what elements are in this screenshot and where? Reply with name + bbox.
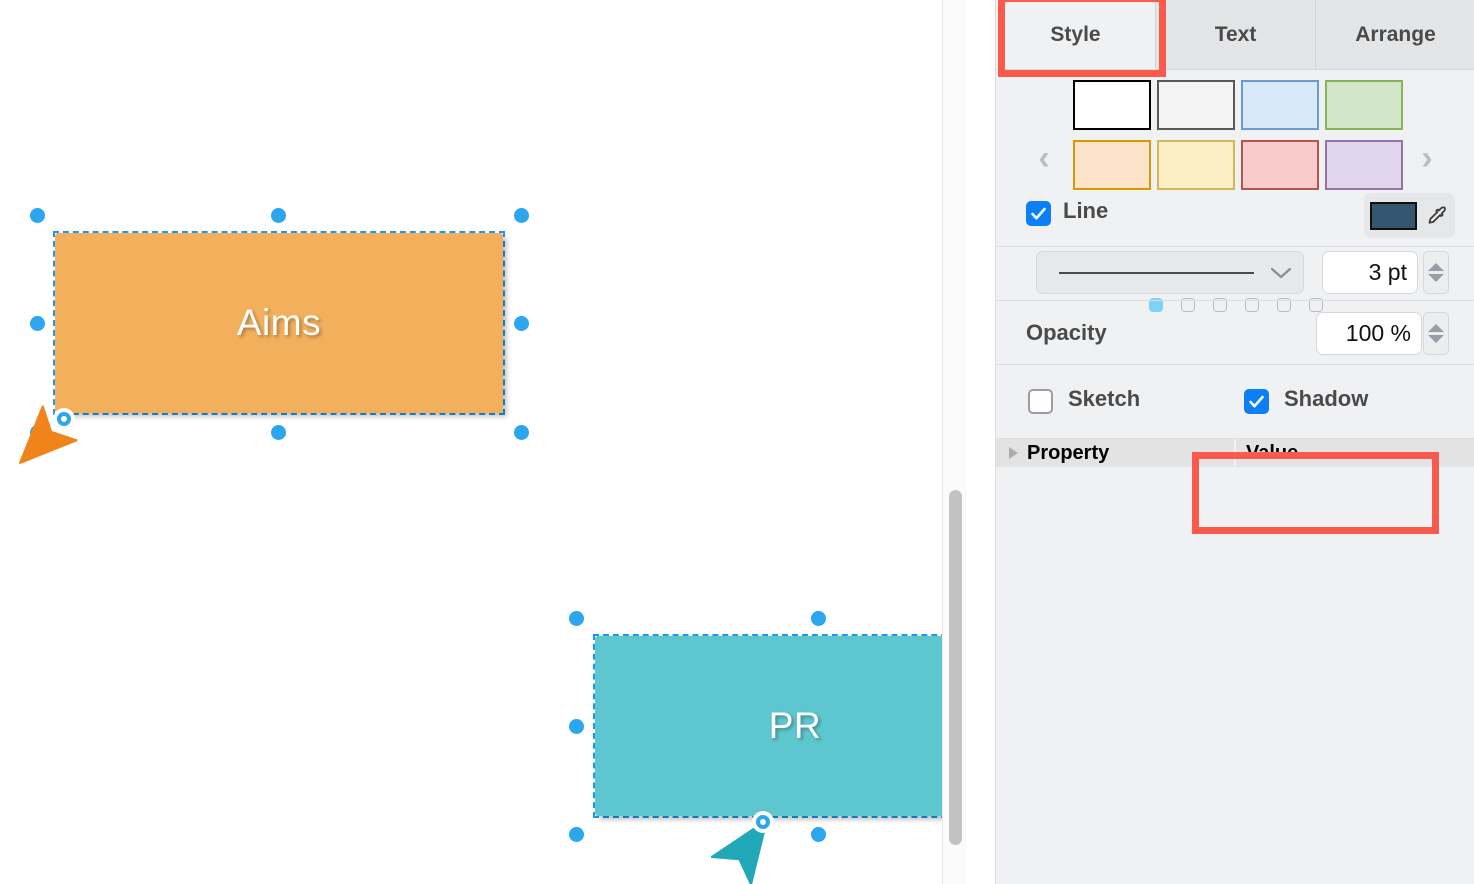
stepper-down-icon[interactable]: [1428, 274, 1444, 282]
panel-tabs: Style Text Arrange: [996, 0, 1474, 70]
opacity-section: Opacity 100 %: [996, 301, 1474, 365]
canvas-scrollbar-track[interactable]: [942, 0, 967, 884]
connection-point-aims-bottom-left[interactable]: [53, 408, 75, 430]
shape-pr[interactable]: PR: [595, 636, 967, 816]
sketch-shadow-section: Sketch Shadow: [996, 365, 1474, 439]
swatch-green[interactable]: [1325, 80, 1403, 130]
cursor-arrow-teal: [706, 806, 790, 884]
value-column-label: Value: [1246, 442, 1298, 465]
format-panel: Style Text Arrange ‹ ›: [995, 0, 1474, 884]
line-label: Line: [1063, 198, 1108, 224]
resize-handle-pr-nw[interactable]: [569, 611, 584, 626]
resize-handle-aims-ne[interactable]: [514, 208, 529, 223]
tab-arrange[interactable]: Arrange: [1316, 0, 1474, 70]
expand-triangle-icon[interactable]: [1009, 447, 1018, 459]
property-table-header: Property Value: [996, 439, 1474, 467]
resize-handle-pr-s[interactable]: [811, 827, 826, 842]
opacity-input[interactable]: 100 %: [1316, 312, 1422, 355]
tab-text[interactable]: Text: [1156, 0, 1316, 70]
line-color-group: [1364, 193, 1455, 238]
swatch-white[interactable]: [1073, 80, 1151, 130]
property-column-header[interactable]: Property: [996, 439, 1236, 467]
swatch-gray[interactable]: [1157, 80, 1235, 130]
resize-handle-aims-e[interactable]: [514, 316, 529, 331]
opacity-label: Opacity: [1026, 320, 1107, 346]
palette-prev-icon[interactable]: ‹: [1030, 136, 1058, 180]
app-root: Aims PR: [0, 0, 1474, 884]
resize-handle-aims-sw[interactable]: [30, 425, 45, 440]
shape-label-pr: PR: [769, 705, 821, 747]
eyedropper-icon[interactable]: [1424, 203, 1450, 229]
palette-next-icon[interactable]: ›: [1413, 136, 1441, 180]
line-style-select[interactable]: [1036, 251, 1304, 294]
resize-handle-aims-nw[interactable]: [30, 208, 45, 223]
sketch-label: Sketch: [1068, 386, 1140, 412]
stepper-up-icon[interactable]: [1428, 324, 1444, 332]
tab-style[interactable]: Style: [996, 0, 1156, 70]
resize-handle-aims-n[interactable]: [271, 208, 286, 223]
resize-handle-pr-w[interactable]: [569, 719, 584, 734]
property-column-label: Property: [1027, 442, 1109, 465]
line-width-stepper[interactable]: [1423, 251, 1449, 294]
opacity-stepper[interactable]: [1423, 312, 1449, 355]
line-style-preview: [1059, 272, 1254, 274]
shadow-label: Shadow: [1284, 386, 1368, 412]
sketch-checkbox[interactable]: [1028, 389, 1053, 414]
shape-label-aims: Aims: [237, 302, 321, 344]
shape-aims[interactable]: Aims: [55, 233, 503, 413]
diagram-canvas[interactable]: Aims PR: [0, 0, 967, 884]
value-column-header: Value: [1236, 439, 1474, 467]
swatch-blue[interactable]: [1241, 80, 1319, 130]
line-width-input[interactable]: 3 pt: [1322, 251, 1418, 294]
canvas-scrollbar-thumb[interactable]: [949, 490, 962, 845]
resize-handle-pr-sw[interactable]: [569, 827, 584, 842]
resize-handle-aims-se[interactable]: [514, 425, 529, 440]
shadow-checkbox[interactable]: [1244, 389, 1269, 414]
resize-handle-aims-w[interactable]: [30, 316, 45, 331]
resize-handle-aims-s[interactable]: [271, 425, 286, 440]
connection-point-pr-bottom-center[interactable]: [752, 811, 774, 833]
line-color-swatch[interactable]: [1370, 202, 1417, 230]
resize-handle-pr-n[interactable]: [811, 611, 826, 626]
property-table-body: [996, 467, 1474, 884]
stepper-down-icon[interactable]: [1428, 335, 1444, 343]
line-checkbox[interactable]: [1026, 201, 1051, 226]
chevron-down-icon: [1270, 266, 1292, 280]
stepper-up-icon[interactable]: [1428, 263, 1444, 271]
line-section: Line 3 pt: [996, 177, 1474, 301]
